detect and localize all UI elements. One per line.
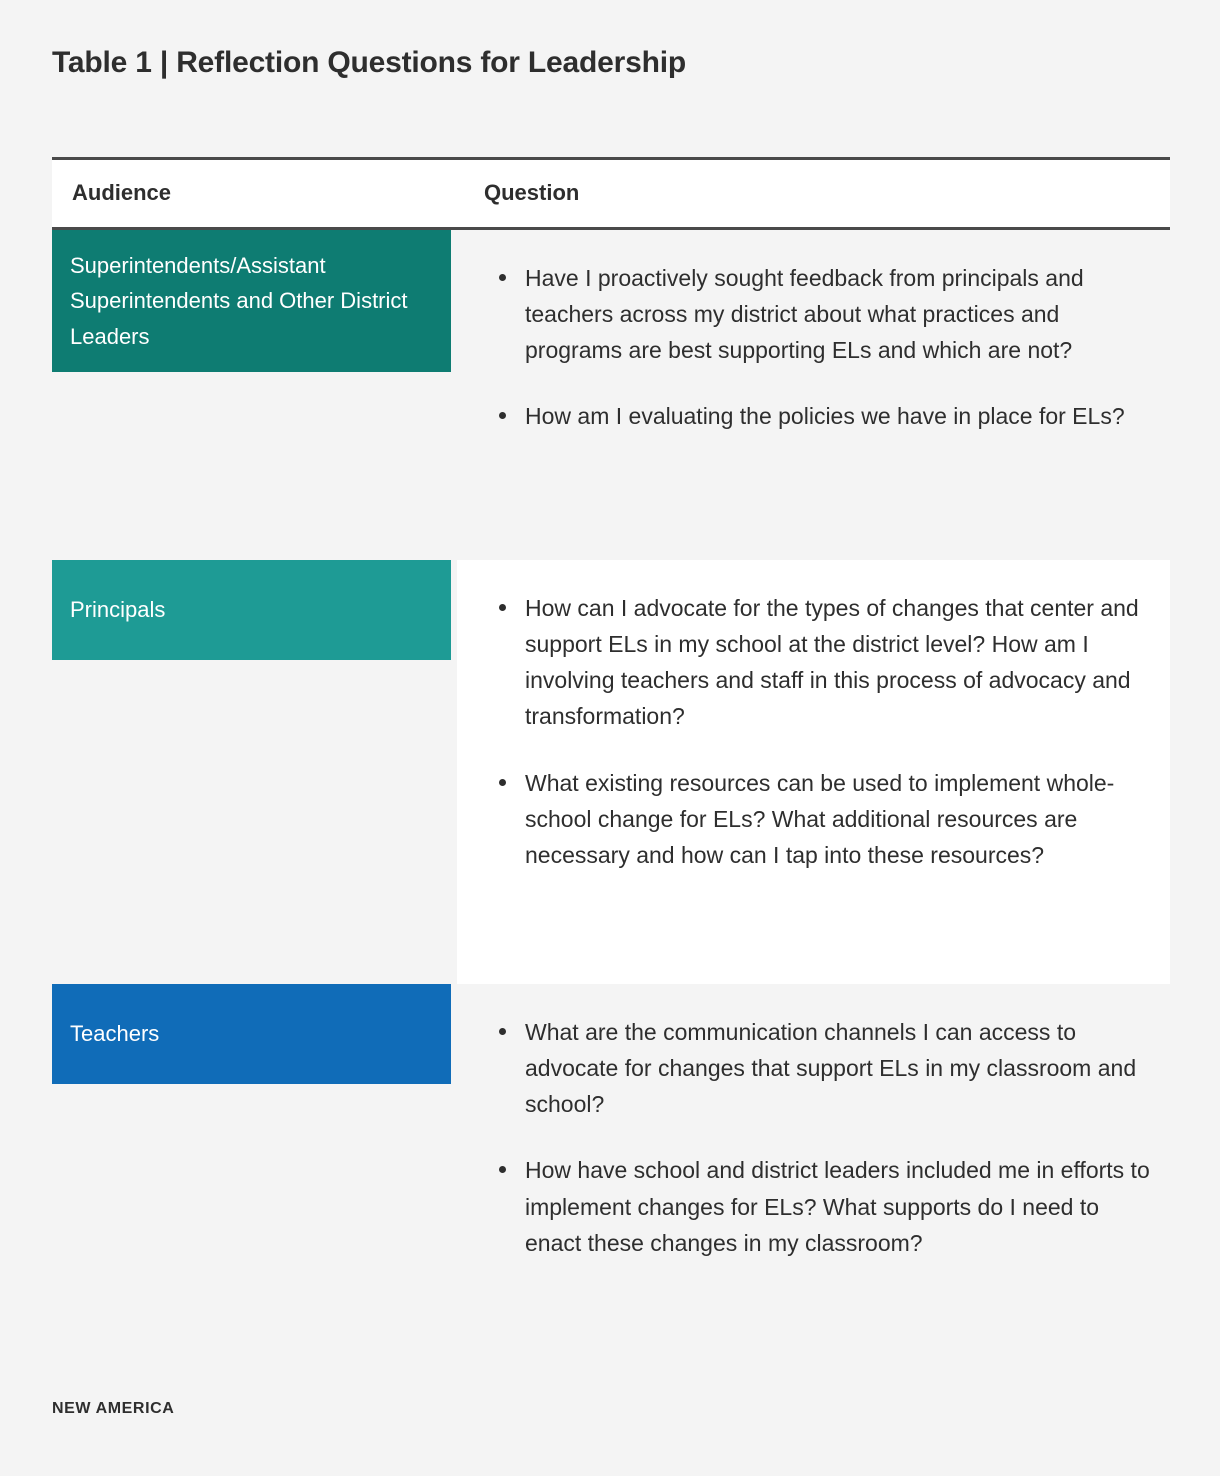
audience-cell: Principals [52,560,457,984]
table-row: Teachers What are the communication chan… [52,984,1170,1344]
question-bullet: What are the communication channels I ca… [487,1014,1150,1123]
audience-label: Principals [70,592,165,628]
question-bullet: How have school and district leaders inc… [487,1152,1150,1261]
column-header-question: Question [457,160,1170,228]
footer-organization-logo: NEW AMERICA [52,1400,174,1418]
question-bullet-list: Have I proactively sought feedback from … [487,260,1150,435]
question-bullet-list: How can I advocate for the types of chan… [487,590,1150,874]
question-content: What are the communication channels I ca… [457,984,1170,1344]
audience-cell: Teachers [52,984,457,1344]
question-cell: Have I proactively sought feedback from … [457,228,1170,560]
table-header: Audience Question [52,160,1170,228]
page-title: Table 1 | Reflection Questions for Leade… [52,46,686,80]
question-cell: What are the communication channels I ca… [457,984,1170,1344]
page-root: Table 1 | Reflection Questions for Leade… [0,0,1220,1476]
column-header-audience: Audience [52,160,457,228]
question-bullet: Have I proactively sought feedback from … [487,260,1150,369]
question-content: Have I proactively sought feedback from … [457,230,1170,560]
question-cell: How can I advocate for the types of chan… [457,560,1170,984]
reflection-questions-table-wrapper: Audience Question Superintendents/Assist… [52,157,1170,1344]
audience-label: Teachers [70,1016,159,1052]
audience-color-block: Principals [52,560,451,660]
table-body: Superintendents/Assistant Superintendent… [52,228,1170,1344]
table-row: Superintendents/Assistant Superintendent… [52,228,1170,560]
audience-color-block: Superintendents/Assistant Superintendent… [52,230,451,373]
question-bullet: How am I evaluating the policies we have… [487,398,1150,434]
question-bullet-list: What are the communication channels I ca… [487,1014,1150,1262]
audience-color-block: Teachers [52,984,451,1084]
question-content: How can I advocate for the types of chan… [457,560,1170,984]
audience-cell: Superintendents/Assistant Superintendent… [52,228,457,560]
reflection-questions-table: Audience Question Superintendents/Assist… [52,160,1170,1344]
question-bullet: What existing resources can be used to i… [487,765,1150,874]
table-header-row: Audience Question [52,160,1170,228]
question-bullet: How can I advocate for the types of chan… [487,590,1150,735]
table-row: Principals How can I advocate for the ty… [52,560,1170,984]
audience-label: Superintendents/Assistant Superintendent… [70,248,427,355]
